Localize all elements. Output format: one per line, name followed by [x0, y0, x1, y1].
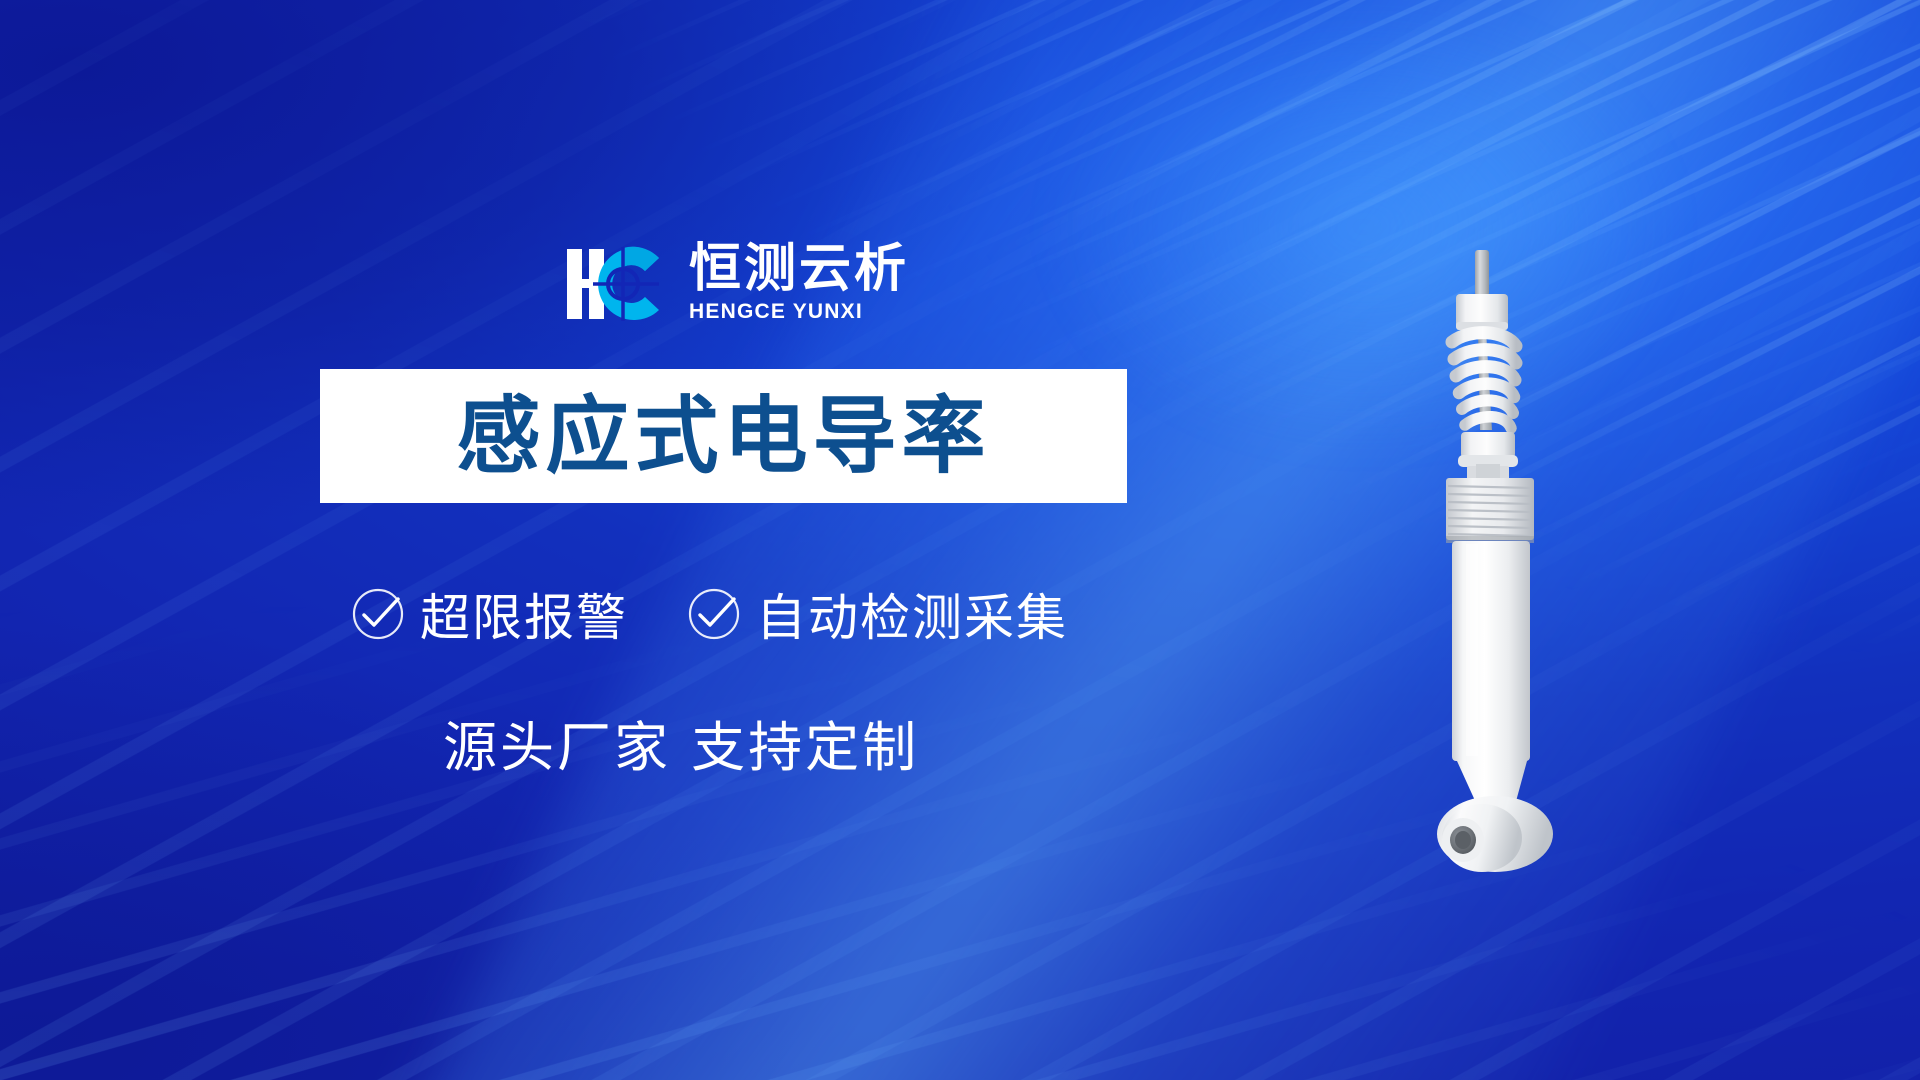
feature-item-1: 自动检测采集: [686, 578, 1068, 650]
hengce-yunxi-logo-mark-icon: [567, 245, 671, 323]
brand-name-cn: 恒测云析: [689, 243, 909, 296]
brand-wordmark: 恒测云析 HENGCE YUNXI: [689, 243, 909, 324]
feature-label: 超限报警: [420, 578, 628, 650]
page-title: 感应式电导率: [456, 394, 990, 478]
product-toroidal-head: [1437, 796, 1553, 872]
product-cable: [1475, 250, 1489, 296]
brand-logo: 恒测云析 HENGCE YUNXI: [567, 243, 909, 324]
title-banner: 感应式电导率: [320, 369, 1127, 503]
product-sensor-body: [1452, 541, 1530, 761]
brand-name-en: HENGCE YUNXI: [689, 300, 909, 324]
product-lock-nut: [1461, 432, 1515, 458]
feature-label: 自动检测采集: [756, 578, 1068, 650]
tagline: 源头厂家 支持定制: [443, 703, 919, 782]
feature-list: 超限报警 自动检测采集: [350, 578, 1068, 650]
product-image: [1330, 250, 1650, 870]
feature-item-0: 超限报警: [350, 578, 628, 650]
circle-check-icon: [686, 586, 742, 642]
promo-banner: 恒测云析 HENGCE YUNXI 感应式电导率 超限报警: [0, 0, 1920, 1080]
product-spiral-strain-relief: [1452, 333, 1516, 428]
circle-check-icon: [350, 586, 406, 642]
